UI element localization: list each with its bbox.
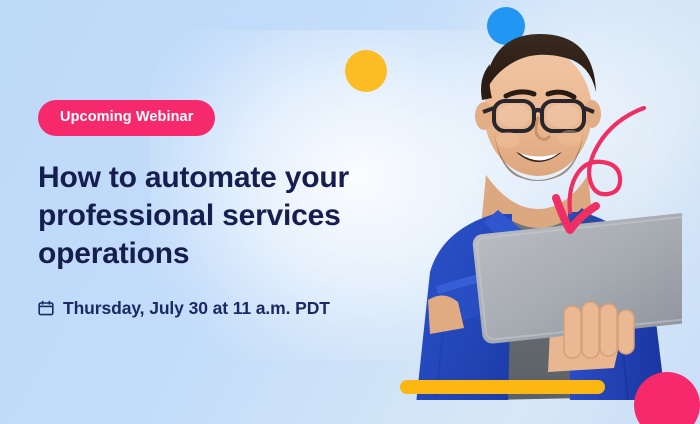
webinar-date-text: Thursday, July 30 at 11 a.m. PDT	[63, 298, 330, 319]
yellow-circle-decoration	[345, 50, 387, 92]
banner-headline: How to automate your professional servic…	[38, 159, 368, 273]
calendar-icon	[38, 300, 54, 316]
pink-curly-arrow-icon	[548, 94, 664, 240]
upcoming-webinar-badge: Upcoming Webinar	[38, 100, 215, 136]
yellow-bar-decoration	[400, 380, 605, 394]
webinar-date-row: Thursday, July 30 at 11 a.m. PDT	[38, 298, 378, 319]
banner-content: Upcoming Webinar How to automate your pr…	[38, 100, 378, 319]
webinar-banner: Upcoming Webinar How to automate your pr…	[0, 0, 700, 424]
